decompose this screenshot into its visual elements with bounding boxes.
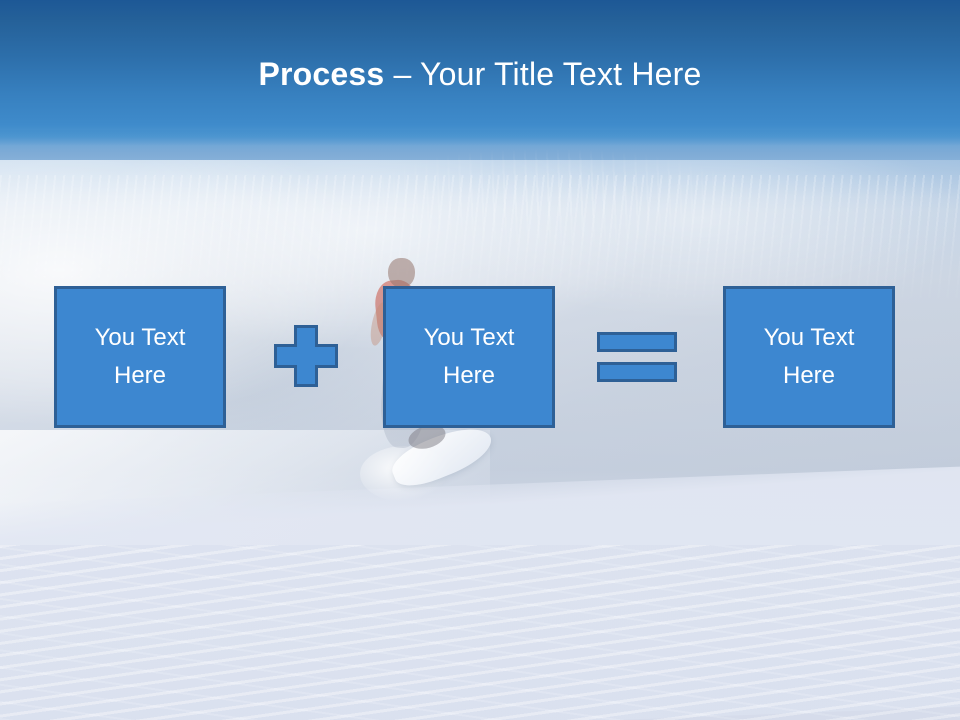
plus-inner-fill-vertical: [297, 328, 315, 384]
process-box-2-line1: You Text: [424, 324, 515, 351]
process-diagram: You TextHere You TextHere You TextHere: [0, 0, 960, 720]
equals-top-bar: [597, 332, 677, 352]
process-box-2[interactable]: You TextHere: [383, 286, 555, 428]
process-box-1-text: You TextHere: [57, 319, 223, 395]
process-box-2-text: You TextHere: [386, 319, 552, 395]
equals-bottom-bar: [597, 362, 677, 382]
process-box-2-line2: Here: [443, 362, 495, 389]
process-box-3-line2: Here: [783, 362, 835, 389]
process-box-3-text: You TextHere: [726, 319, 892, 395]
process-box-1-line2: Here: [114, 362, 166, 389]
slide-canvas: Process – Your Title Text Here You TextH…: [0, 0, 960, 720]
process-box-3[interactable]: You TextHere: [723, 286, 895, 428]
process-box-1[interactable]: You TextHere: [54, 286, 226, 428]
process-box-3-line1: You Text: [764, 324, 855, 351]
equals-operator-icon: [597, 332, 677, 382]
plus-operator-icon: [274, 325, 338, 387]
process-box-1-line1: You Text: [95, 324, 186, 351]
